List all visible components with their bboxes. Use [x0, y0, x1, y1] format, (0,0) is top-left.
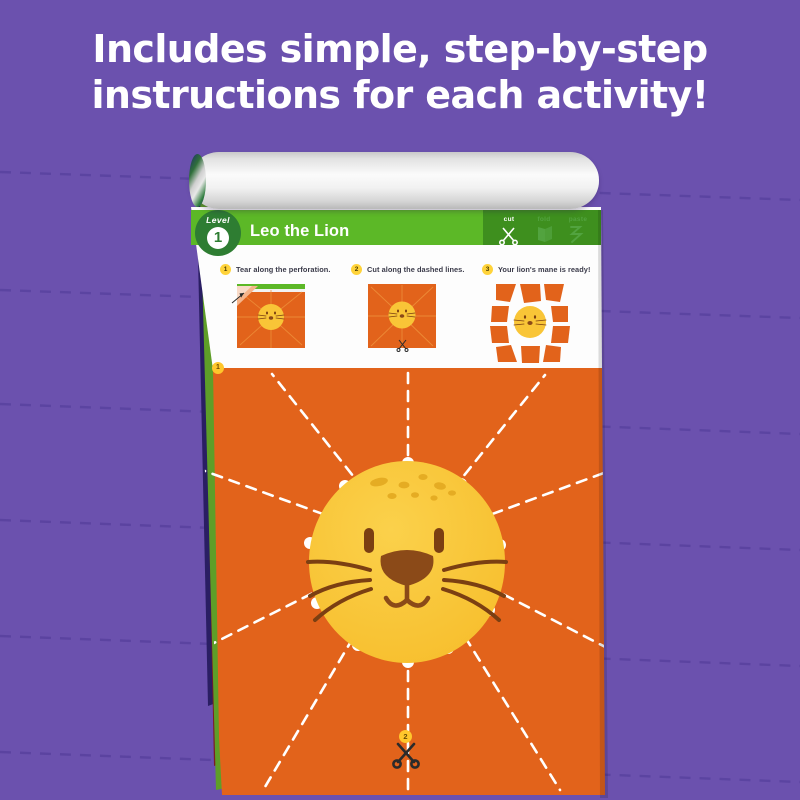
step-2-text: Cut along the dashed lines. — [367, 265, 464, 274]
step-1-number: 1 — [220, 264, 231, 275]
tool-label-cut[interactable]: cut — [492, 216, 526, 223]
cut-label: cut — [492, 216, 526, 223]
sheet-title: Leo the Lion — [250, 222, 349, 241]
tool-label-paste[interactable]: paste — [561, 216, 595, 223]
step-2-number: 2 — [351, 264, 362, 275]
cut-step-badge: 2 — [399, 730, 412, 743]
paste-label: paste — [561, 216, 595, 223]
rolled-paper-end-cap — [189, 154, 206, 207]
poster-headline: Includes simple, step-by-step instructio… — [0, 26, 800, 119]
step-instructions: 1 Tear along the perforation. 2 Cut alon… — [0, 0, 800, 800]
level-word: Level — [196, 215, 240, 225]
level-badge: Level 1 — [196, 214, 240, 256]
perforation-badge: 1 — [212, 362, 224, 374]
fold-label: fold — [527, 216, 561, 223]
tool-label-fold[interactable]: fold — [527, 216, 561, 223]
headline-line-2: instructions for each activity! — [0, 72, 800, 118]
step-1-text: Tear along the perforation. — [236, 265, 330, 274]
poster-canvas: Includes simple, step-by-step instructio… — [0, 0, 800, 800]
step-3-number: 3 — [482, 264, 493, 275]
step-3-text: Your lion's mane is ready! — [498, 265, 590, 274]
headline-line-1: Includes simple, step-by-step — [0, 26, 800, 72]
rolled-paper-top — [190, 152, 599, 209]
level-number: 1 — [207, 227, 229, 249]
